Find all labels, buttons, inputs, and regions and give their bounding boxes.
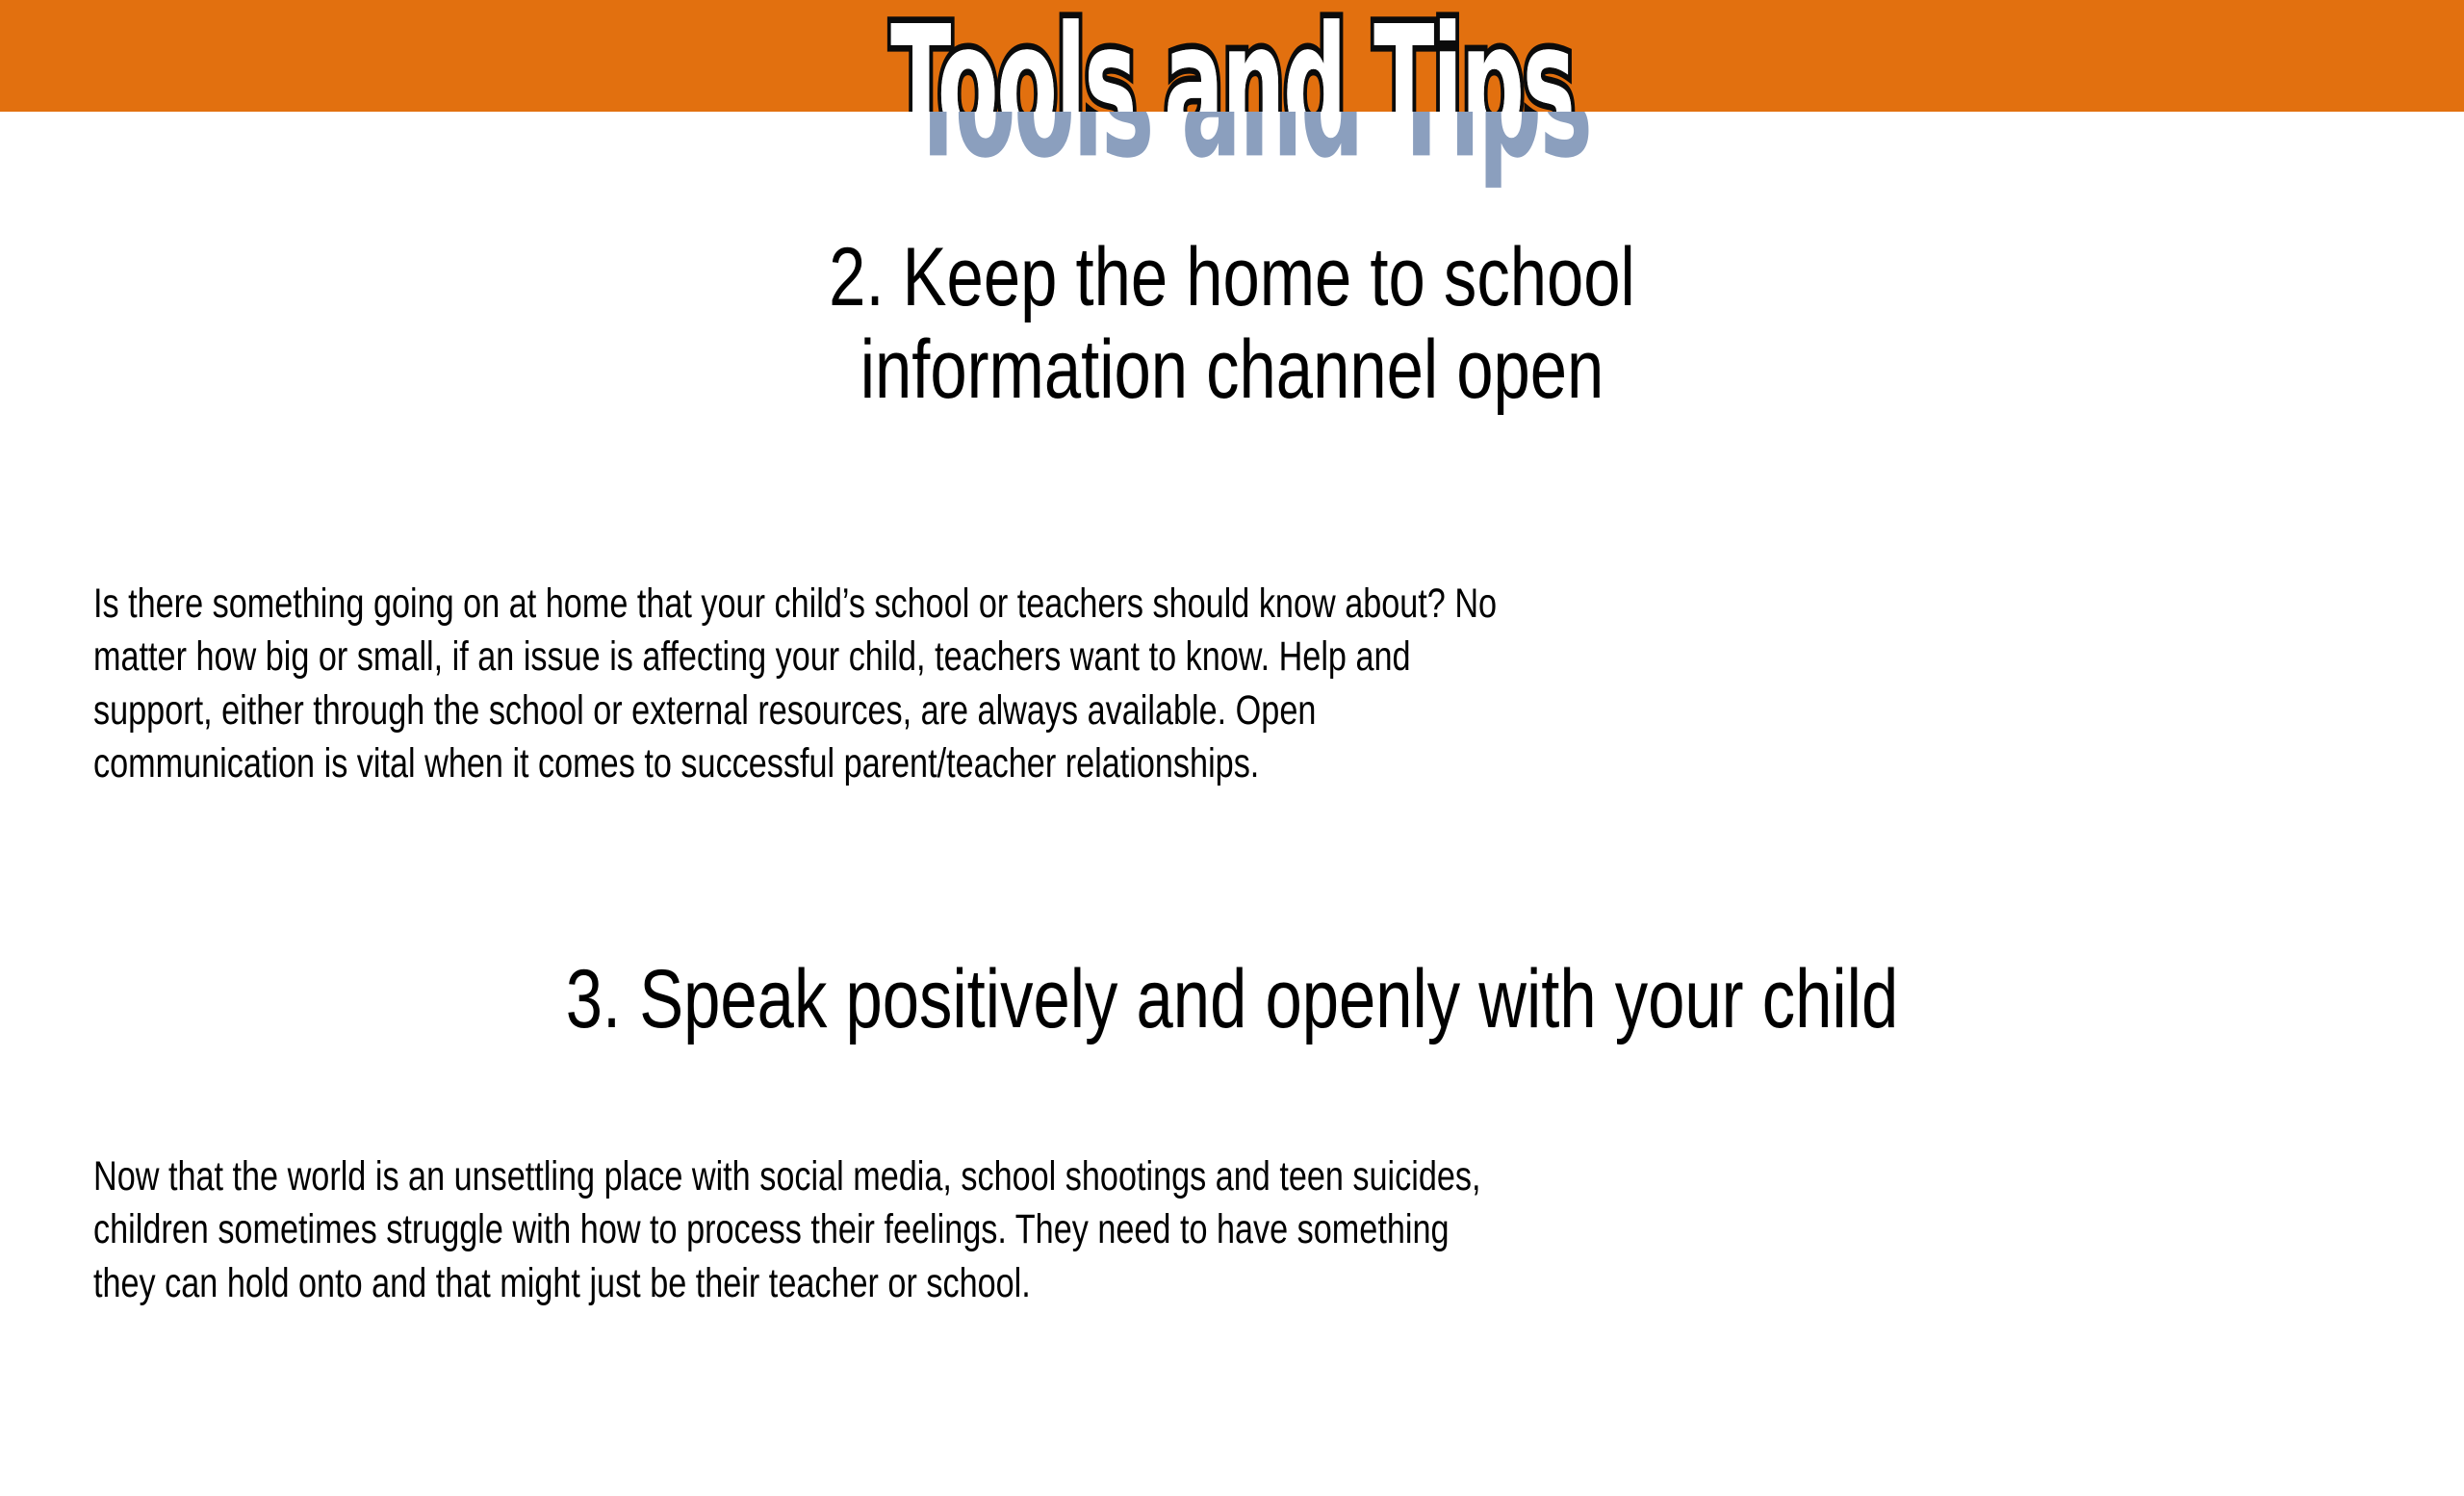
section-body-3: Now that the world is an unsettling plac…: [93, 1150, 1519, 1310]
section-body-2: Is there something going on at home that…: [93, 578, 1519, 790]
section-heading-2: 2. Keep the home to school information c…: [577, 231, 1886, 417]
section-heading-3: 3. Speak positively and openly with your…: [293, 953, 2171, 1045]
slide-canvas: Tools and Tips Tools and Tips Tools and …: [0, 0, 2464, 1496]
orange-banner: [0, 0, 2464, 112]
